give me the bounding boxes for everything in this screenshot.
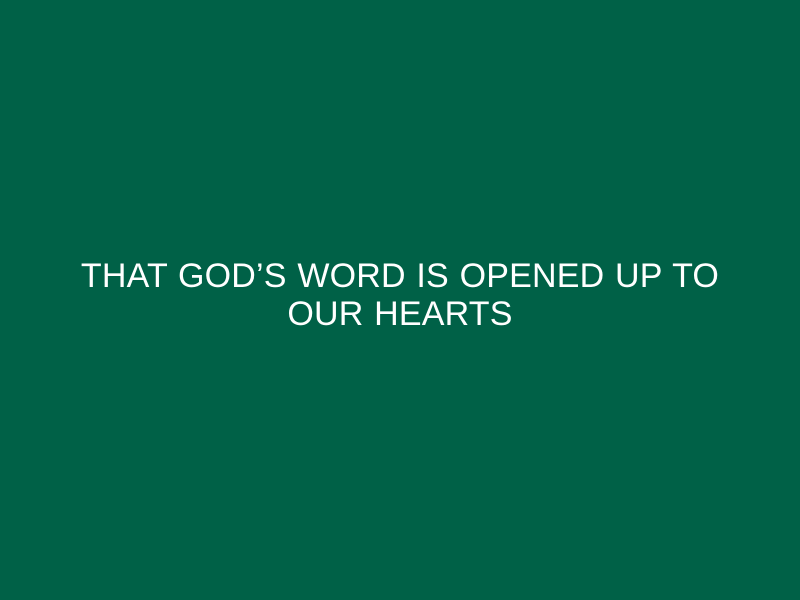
slide-body-textbox: THAT GOD’S WORD IS OPENED UP TO OUR HEAR… (70, 257, 730, 333)
slide-body-line: THAT GOD’S WORD IS OPENED UP TO OUR HEAR… (70, 257, 730, 333)
slide-canvas: THAT GOD’S WORD IS OPENED UP TO OUR HEAR… (0, 0, 800, 600)
